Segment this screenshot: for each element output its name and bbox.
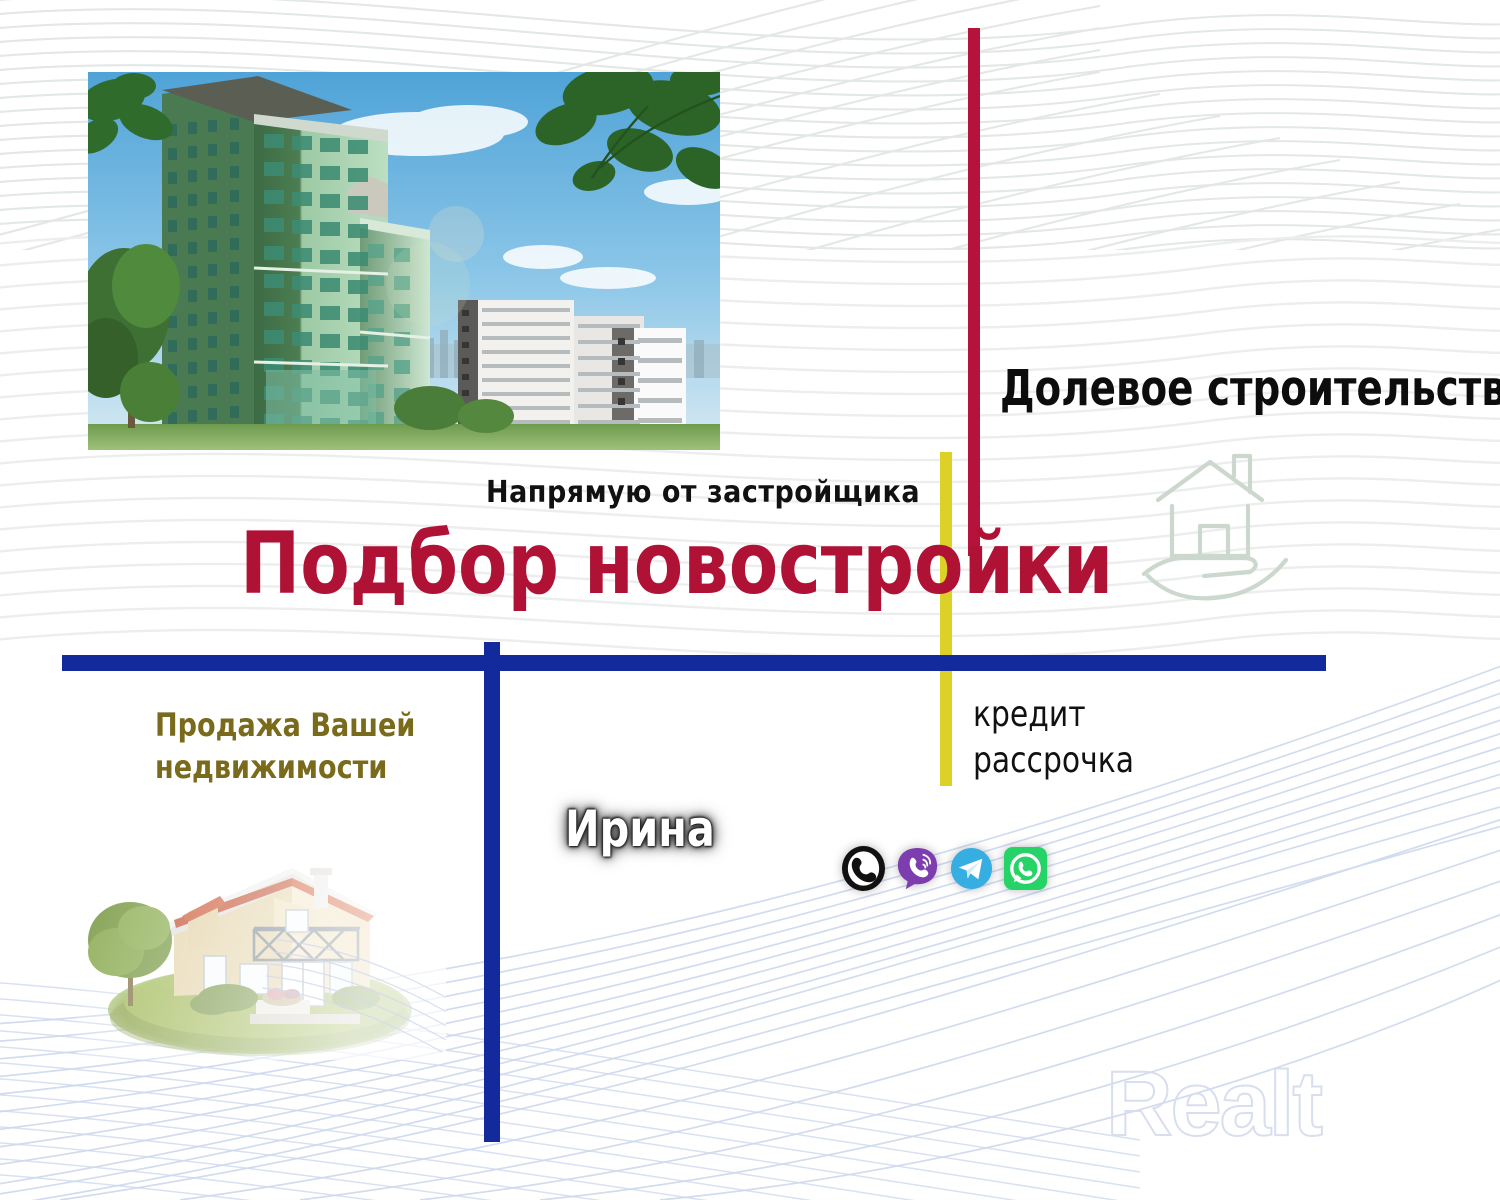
hand-holding-house-icon — [1140, 448, 1292, 608]
sale-service-label: Продажа Вашей недвижимости — [155, 705, 437, 788]
phone-icon[interactable] — [840, 845, 887, 892]
blue-horizontal-rule — [62, 655, 1326, 671]
dolevoe-label: Долевое строительство — [1000, 360, 1500, 417]
telegram-icon[interactable] — [948, 845, 995, 892]
finance-installment-line: рассрочка — [973, 738, 1134, 784]
contact-icons — [840, 845, 1049, 892]
blue-vertical-rule — [484, 642, 500, 1142]
whatsapp-icon[interactable] — [1002, 845, 1049, 892]
viber-icon[interactable] — [894, 845, 941, 892]
sale-line-2: недвижимости — [155, 747, 437, 789]
banner-canvas: Realt — [0, 0, 1500, 1200]
new-building-photo — [88, 72, 720, 450]
red-vertical-rule — [968, 28, 980, 556]
cottage-photo — [78, 828, 446, 1060]
sale-line-1: Продажа Вашей — [155, 706, 415, 744]
kicker-text: Напрямую от застройщика — [486, 475, 920, 510]
page-title: Подбор новостройки — [240, 522, 1113, 606]
realt-watermark: Realt — [1106, 1052, 1321, 1157]
yellow-vertical-rule — [940, 452, 952, 786]
agent-name: Ирина — [565, 800, 715, 858]
finance-credit-line: кредит — [973, 692, 1134, 738]
finance-options: кредит рассрочка — [973, 692, 1134, 784]
